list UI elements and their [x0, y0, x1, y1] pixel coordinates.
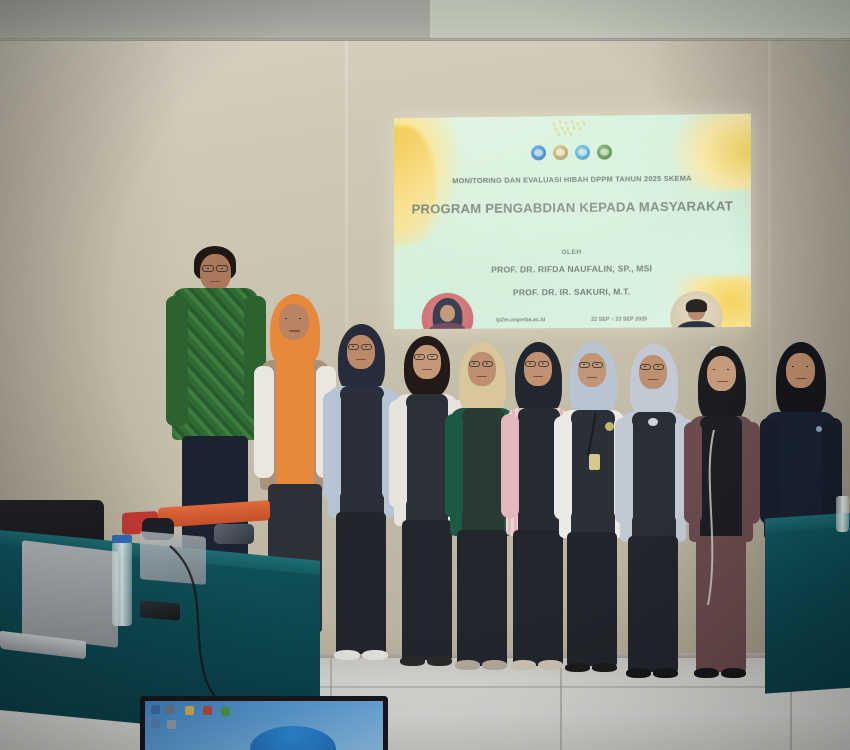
shoe — [511, 660, 536, 670]
head — [578, 353, 606, 387]
head — [707, 356, 736, 391]
emblem-icon — [605, 422, 614, 431]
sandal — [565, 663, 590, 672]
vest — [406, 394, 448, 526]
hijab-drape — [276, 360, 314, 488]
photo-scene: MONITORING DAN EVALUASI HIBAH DPPM TAHUN… — [0, 0, 850, 750]
outer-layer — [462, 408, 504, 536]
slide-date-range: 22 SEP – 23 SEP 2025 — [591, 316, 647, 322]
shoe — [694, 668, 719, 678]
arm-left — [254, 366, 274, 478]
wallpaper-orb — [250, 726, 336, 750]
head — [347, 335, 375, 369]
desktop-icon-recycle-bin[interactable] — [151, 705, 160, 714]
logo-kemendikbud-icon — [531, 145, 546, 160]
power-cable-right — [690, 430, 780, 620]
trousers — [336, 512, 386, 654]
slide-website: lp2m.unperba.ac.id — [496, 317, 545, 323]
laptop-open-silver — [22, 540, 118, 648]
desktop-icon-app-green[interactable] — [221, 707, 230, 716]
desktop-icon-this-pc[interactable] — [165, 705, 174, 714]
head — [200, 254, 231, 291]
power-cable — [160, 540, 340, 710]
person-grey-hijab-vest — [614, 344, 694, 672]
shoe — [455, 660, 480, 670]
slide-decor-dots — [551, 120, 597, 137]
floor-tile-line — [560, 658, 562, 750]
logo-institution-4-icon — [597, 145, 612, 160]
trousers — [567, 532, 617, 666]
shoe — [721, 668, 746, 678]
upper-wall-right — [430, 0, 850, 40]
head — [279, 304, 309, 340]
trousers — [628, 536, 678, 672]
arm-left — [501, 414, 519, 518]
logo-institution-2-icon — [553, 145, 568, 160]
head — [413, 345, 441, 379]
head — [786, 353, 815, 388]
arm-left — [166, 296, 188, 426]
shoe — [362, 650, 388, 660]
arm-left — [445, 414, 463, 518]
bottle-cap — [112, 535, 132, 543]
arm-left — [323, 392, 341, 500]
arm-left — [389, 400, 407, 508]
shoe — [400, 656, 425, 666]
desktop-monitor-foreground[interactable] — [140, 696, 388, 750]
desktop-icon-folder[interactable] — [185, 706, 194, 715]
arm-left — [554, 416, 572, 520]
id-badge — [589, 454, 600, 470]
logo-institution-3-icon — [575, 145, 590, 160]
head — [639, 355, 667, 389]
brooch-icon — [648, 418, 658, 426]
vest — [632, 412, 676, 542]
desktop-icon-app-blue[interactable] — [151, 719, 160, 728]
shoe — [653, 668, 678, 678]
desktop-icon-app-grey[interactable] — [167, 720, 176, 729]
vest — [340, 386, 384, 518]
projector-screen: MONITORING DAN EVALUASI HIBAH DPPM TAHUN… — [394, 114, 751, 329]
arm-left — [615, 418, 633, 524]
water-bottle-blue-cap — [112, 542, 132, 626]
water-bottle-clear — [836, 496, 849, 532]
head — [468, 352, 496, 386]
desktop-icon-app-red[interactable] — [203, 706, 212, 715]
shoe — [626, 668, 651, 678]
head — [524, 352, 552, 386]
